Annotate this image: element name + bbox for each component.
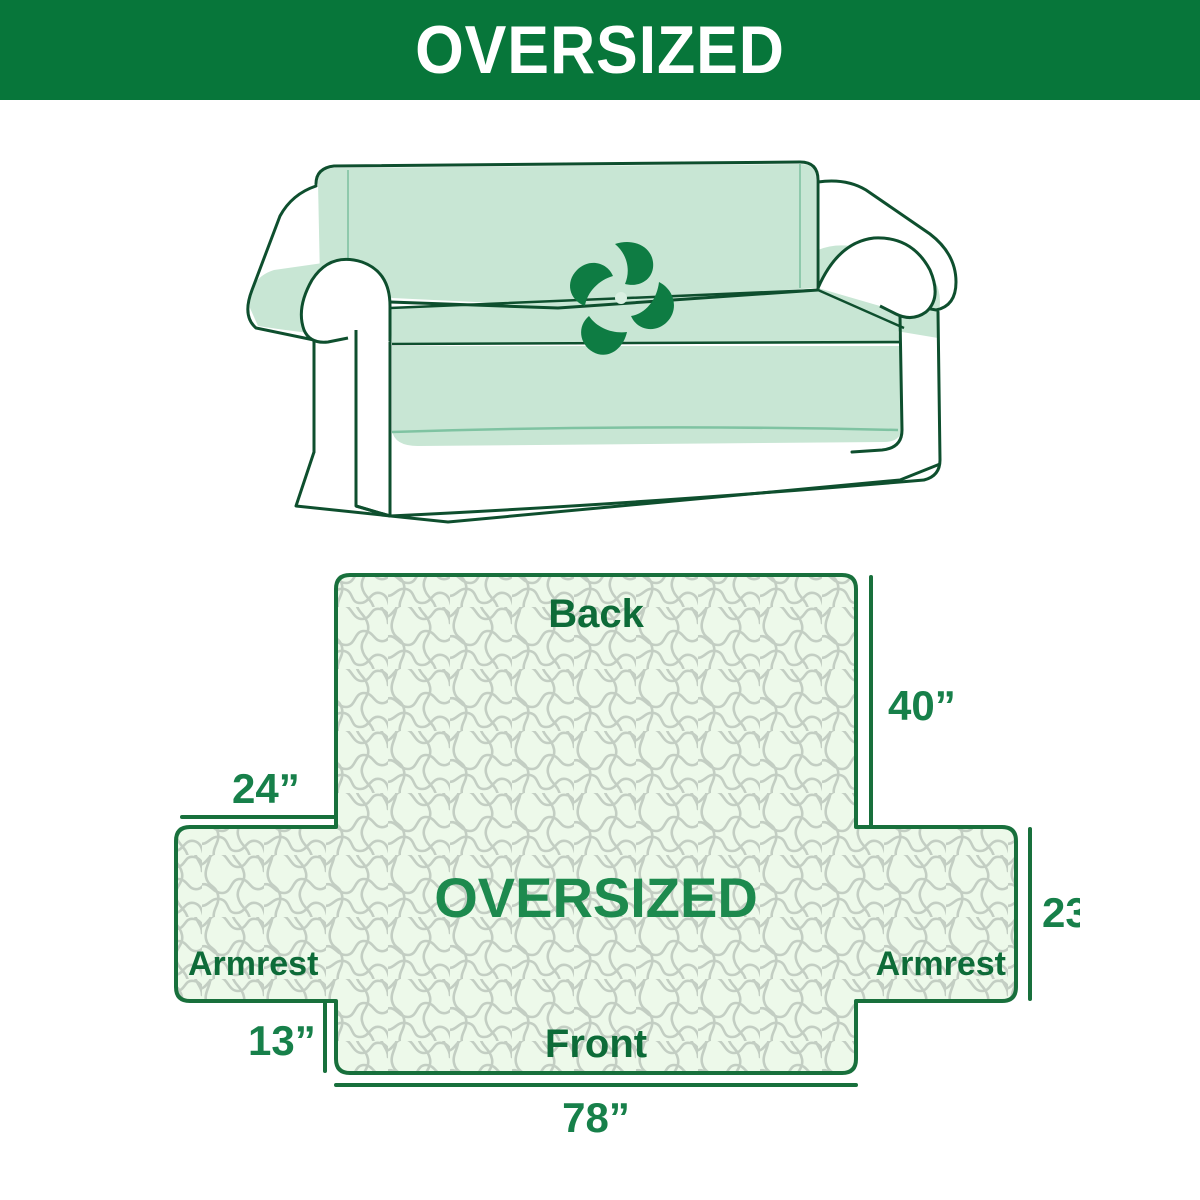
flat-center-size-label: OVERSIZED: [434, 866, 758, 929]
sofa-right-arm-side: [924, 312, 940, 480]
flat-pattern-svg: 40” 24” 23” 13” 78” Back Armrest Armrest…: [140, 545, 1080, 1145]
panel-label-armrest-right: Armrest: [876, 945, 1006, 983]
dimension-label-armrest-depth: 23”: [1042, 889, 1080, 936]
sofa-left-arm-front-edge: [356, 330, 390, 516]
sofa-illustration: [240, 130, 980, 530]
panel-label-armrest-left: Armrest: [188, 945, 318, 983]
header-banner: OVERSIZED: [0, 0, 1200, 100]
sofa-drawing-svg: [240, 130, 980, 530]
slipcover-flat-shape: [176, 575, 1016, 1073]
panel-label-front: Front: [545, 1022, 647, 1066]
dimension-label-armrest-overhang: 24”: [232, 765, 300, 812]
banner-title: OVERSIZED: [415, 16, 785, 84]
size-chart-page: OVERSIZED: [0, 0, 1200, 1200]
panel-label-back: Back: [548, 592, 644, 636]
flat-pattern-diagram: 40” 24” 23” 13” 78” Back Armrest Armrest…: [140, 545, 1080, 1145]
dimension-label-front-flap: 13”: [248, 1017, 316, 1064]
sofa-back-fill: [318, 164, 816, 306]
dimension-label-back-height: 40”: [888, 682, 956, 729]
dimension-label-total-width: 78”: [562, 1094, 630, 1141]
